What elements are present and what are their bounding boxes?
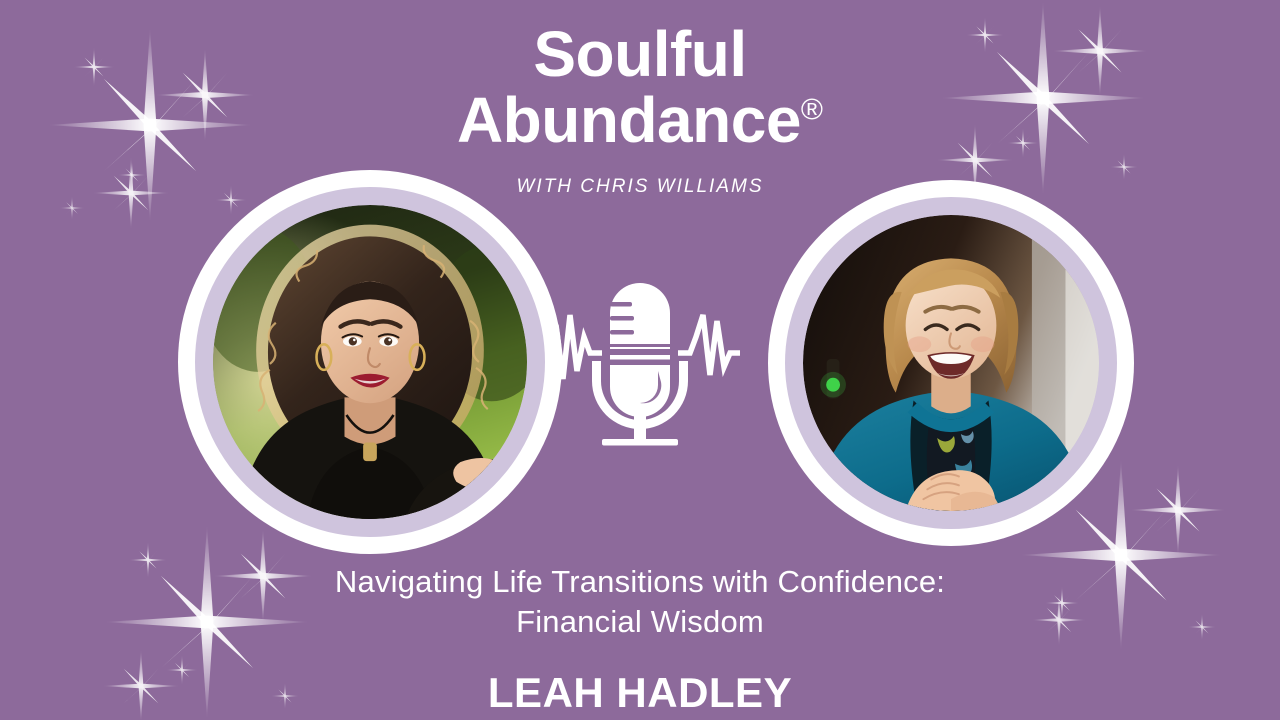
sparkle-star-icon	[64, 200, 80, 216]
episode-title-line-1: Navigating Life Transitions with Confide…	[0, 562, 1280, 602]
episode-info-block: Navigating Life Transitions with Confide…	[0, 562, 1280, 717]
sparkle-star-icon	[1148, 480, 1208, 540]
podcast-cover-art: Soulful Abundance® WITH CHRIS WILLIAMS	[0, 0, 1280, 720]
podcast-title-block: Soulful Abundance® WITH CHRIS WILLIAMS	[0, 22, 1280, 198]
host-credit: WITH CHRIS WILLIAMS	[0, 176, 1280, 198]
microphone-icon	[592, 283, 688, 446]
microphone-waveform-emblem	[540, 275, 740, 455]
host-portrait	[178, 170, 562, 554]
guest-name: LEAH HADLEY	[0, 669, 1280, 717]
episode-title: Navigating Life Transitions with Confide…	[0, 562, 1280, 643]
episode-title-line-2: Financial Wisdom	[0, 602, 1280, 642]
guest-portrait-photo	[803, 215, 1099, 511]
host-portrait-photo	[213, 205, 527, 519]
guest-portrait	[768, 180, 1134, 546]
podcast-title-line-1: Soulful	[0, 22, 1280, 88]
registered-trademark-icon: ®	[801, 94, 823, 127]
podcast-title-word: Abundance	[457, 84, 801, 156]
podcast-title-line-2: Abundance®	[0, 88, 1280, 154]
